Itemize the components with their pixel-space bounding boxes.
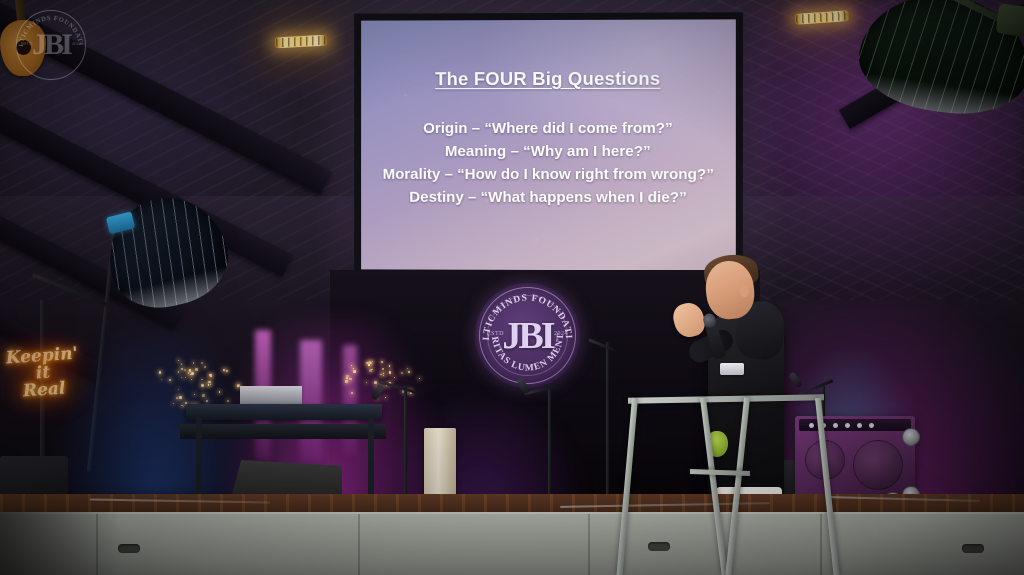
wall-light-column — [300, 340, 322, 460]
slide-surface: The FOUR Big Questions Origin – “Where d… — [361, 19, 736, 270]
neon-sign-line2: Real — [22, 378, 66, 401]
guitar-amplifier — [795, 416, 915, 500]
projection-screen: The FOUR Big Questions Origin – “Where d… — [354, 12, 743, 277]
mic-stand — [520, 370, 580, 502]
presenter-ear — [740, 285, 749, 297]
slide-title: The FOUR Big Questions — [435, 68, 660, 90]
slide-line-origin: Origin – “Where did I come from?” — [423, 120, 673, 137]
stage-panel-handle — [962, 544, 984, 553]
neon-sign-text: Keepin' it Real — [0, 345, 85, 402]
keyboard-lower — [180, 424, 386, 439]
sparkler-decor-left — [150, 345, 230, 405]
watermark-monogram: JBI — [14, 8, 88, 82]
amp-caster — [902, 428, 920, 446]
stage-scene: The FOUR Big Questions Origin – “Where d… — [0, 0, 1024, 575]
keyboard-upper — [186, 404, 382, 420]
slide-body: Origin – “Where did I come from?” Meanin… — [383, 120, 714, 206]
slide-content: The FOUR Big Questions Origin – “Where d… — [361, 19, 736, 270]
light-knuckle — [995, 3, 1024, 37]
stage-panel-handle — [118, 544, 140, 553]
amp-control-panel — [799, 419, 911, 431]
keyboard-display — [240, 386, 302, 406]
keyboard-stand-leg — [368, 418, 374, 496]
stage-front-panel — [0, 512, 1024, 575]
slide-line-meaning: Meaning – “Why am I here?” — [445, 143, 651, 160]
mic-stand — [588, 332, 628, 502]
neon-sign: Keepin' it Real — [0, 333, 86, 413]
mic-stand — [378, 356, 438, 502]
watermark-logo: BALTICMINDS FOUNDATION ESTD 2024 JBI — [14, 8, 88, 82]
stage-panel-handle — [648, 542, 670, 551]
slide-line-destiny: Destiny – “What happens when I die?” — [409, 189, 686, 206]
presenter-badge — [720, 363, 744, 375]
stage-shadow — [0, 512, 120, 575]
neon-sign-line1: Keepin' it — [5, 343, 78, 383]
keyboard-stand-leg — [196, 418, 202, 496]
slide-line-morality: Morality – “How do I know right from wro… — [383, 166, 714, 183]
